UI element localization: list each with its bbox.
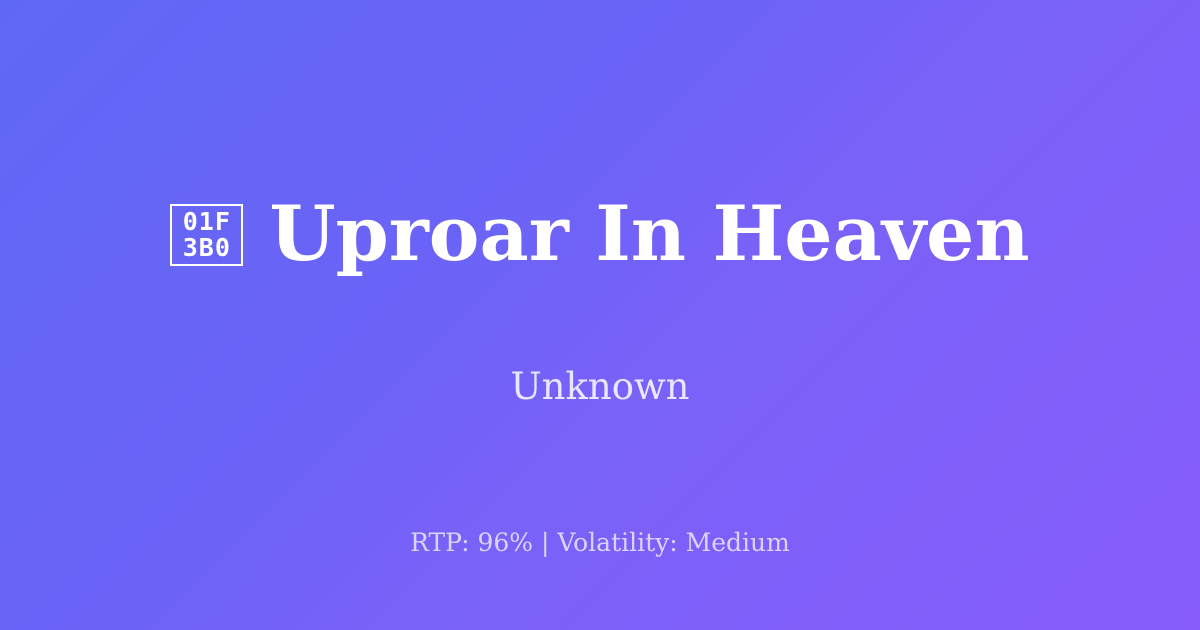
game-preview-card: 01F 3B0 Uproar In Heaven Unknown RTP: 96… [0, 0, 1200, 630]
slot-machine-icon-codepoint-low: 3B0 [183, 235, 231, 261]
game-provider: Unknown [0, 363, 1200, 411]
game-meta-line: RTP: 96% | Volatility: Medium [0, 527, 1200, 559]
slot-machine-icon: 01F 3B0 [170, 204, 243, 266]
game-title-text: Uproar In Heaven [269, 194, 1029, 274]
page-title: 01F 3B0 Uproar In Heaven [170, 194, 1029, 274]
slot-machine-icon-codepoint-high: 01F [183, 209, 231, 235]
